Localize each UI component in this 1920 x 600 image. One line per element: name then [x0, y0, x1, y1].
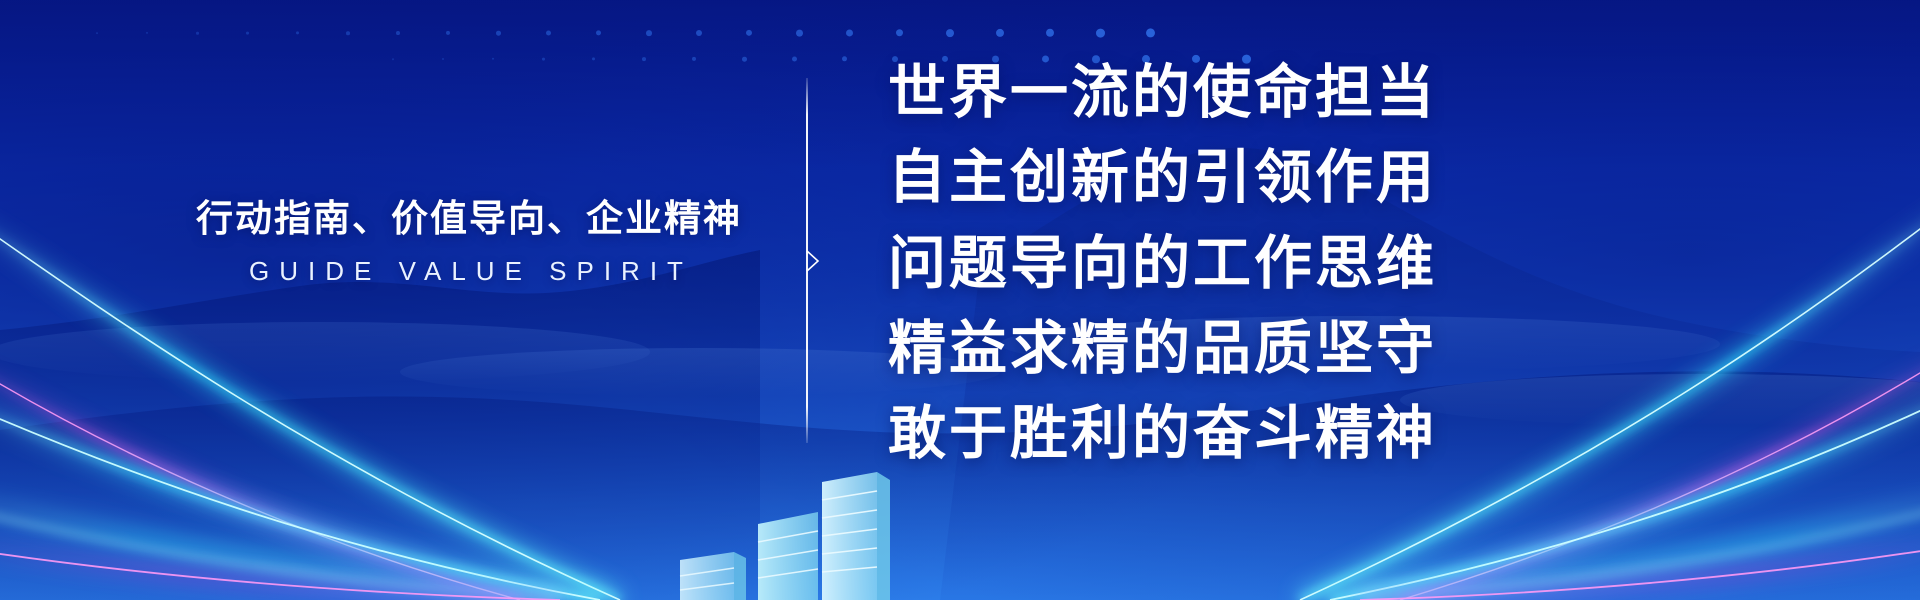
dot [446, 31, 450, 35]
right-line-5: 敢于胜利的奋斗精神 [888, 391, 1898, 476]
dot [442, 58, 444, 60]
dot [596, 30, 601, 35]
dot [246, 32, 249, 35]
dot [692, 57, 696, 61]
dot [592, 57, 595, 60]
dot [946, 29, 954, 37]
dot [196, 32, 199, 35]
left-text-block: 行动指南、价值导向、企业精神 GUIDE VALUE SPIRIT [196, 196, 736, 287]
right-line-3: 问题导向的工作思维 [888, 221, 1898, 306]
left-subtitle: GUIDE VALUE SPIRIT [196, 256, 736, 287]
right-line-1: 世界一流的使命担当 [888, 50, 1898, 135]
dot [846, 29, 853, 36]
dot [792, 57, 797, 62]
dot [492, 58, 494, 60]
right-line-2: 自主创新的引领作用 [888, 135, 1898, 220]
dot [642, 57, 646, 61]
left-title: 行动指南、价值导向、企业精神 [196, 196, 736, 242]
city-buildings-icon [672, 460, 932, 600]
hero-banner: 行动指南、价值导向、企业精神 GUIDE VALUE SPIRIT 世界一流的使… [0, 0, 1920, 600]
dot [392, 58, 394, 60]
dot [146, 32, 148, 34]
right-line-4: 精益求精的品质坚守 [888, 306, 1898, 391]
dot [696, 30, 702, 36]
dot [746, 30, 752, 36]
dot [1096, 29, 1105, 38]
dot [742, 57, 747, 62]
dot [842, 56, 847, 61]
dot [396, 31, 400, 35]
dot [346, 31, 350, 35]
dot [496, 31, 501, 36]
dot [1046, 29, 1054, 37]
dot [646, 30, 652, 36]
dot [796, 30, 803, 37]
right-text-block: 世界一流的使命担当 自主创新的引领作用 问题导向的工作思维 精益求精的品质坚守 … [888, 50, 1898, 476]
chevron-right-icon [806, 250, 820, 272]
vertical-divider [806, 78, 832, 443]
dot [896, 29, 903, 36]
dot [996, 29, 1004, 37]
dot [546, 31, 551, 36]
dot [542, 58, 545, 61]
dot [296, 31, 299, 34]
dot [96, 32, 98, 34]
